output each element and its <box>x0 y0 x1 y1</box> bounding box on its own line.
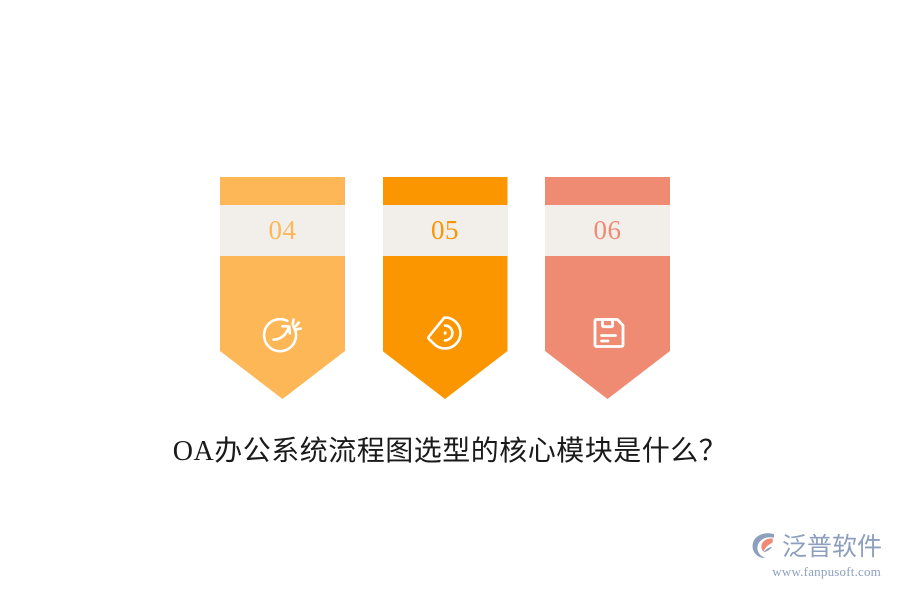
logo-row: 泛普软件 <box>747 530 882 564</box>
banner-number-band: 05 <box>383 205 508 256</box>
banner-number: 05 <box>431 217 459 244</box>
brand-logo: 泛普软件 www.fanpusoft.com <box>747 530 882 588</box>
banner-05[interactable]: 05 <box>383 177 508 399</box>
banner-number-band: 04 <box>220 205 345 256</box>
banner-number: 06 <box>594 217 622 244</box>
logo-brand-text: 泛普软件 <box>782 533 882 561</box>
broadcast-signal-icon <box>383 305 508 361</box>
document-save-icon <box>545 305 670 361</box>
page-title: OA办公系统流程图选型的核心模块是什么？ <box>0 432 900 472</box>
banner-number-band: 06 <box>545 205 670 256</box>
banner-06[interactable]: 06 <box>545 177 670 399</box>
logo-url-text: www.fanpusoft.com <box>747 564 882 580</box>
banner-04[interactable]: 04 <box>220 177 345 399</box>
banner-number: 04 <box>269 217 297 244</box>
banner-group: 04 05 06 <box>220 177 670 399</box>
fanpu-logo-mark-icon <box>749 530 779 565</box>
growth-arrow-circle-icon <box>220 305 345 361</box>
